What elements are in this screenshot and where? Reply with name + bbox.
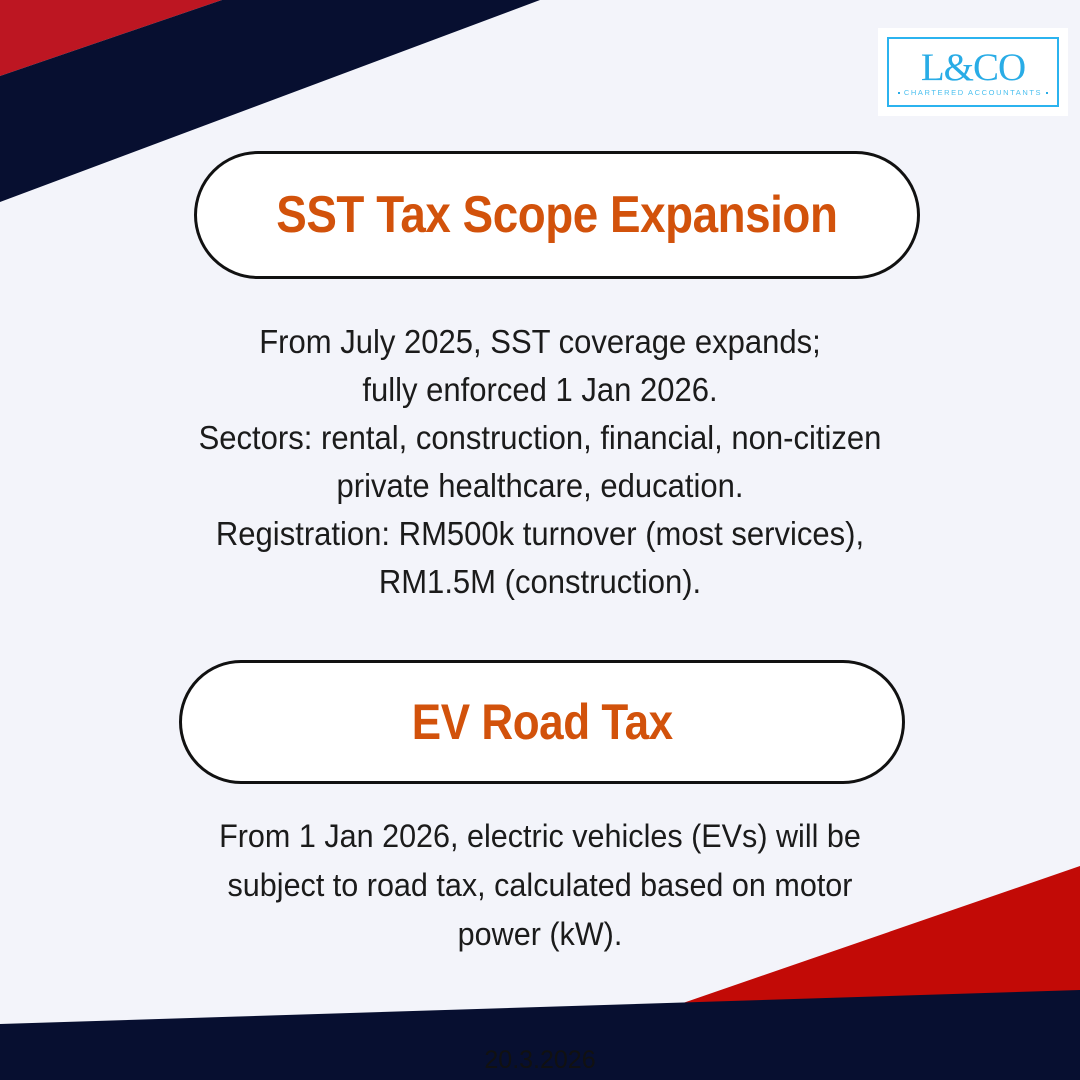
logo-frame: L&CO CHARTERED ACCOUNTANTS	[887, 37, 1059, 107]
logo-tagline-row: CHARTERED ACCOUNTANTS	[898, 88, 1048, 97]
company-logo: L&CO CHARTERED ACCOUNTANTS	[878, 28, 1068, 116]
heading-text-ev: EV Road Tax	[412, 693, 673, 751]
poster-canvas: L&CO CHARTERED ACCOUNTANTS SST Tax Scope…	[0, 0, 1080, 1080]
logo-wordmark: L&CO	[921, 49, 1025, 86]
logo-rule-right	[1046, 92, 1048, 94]
logo-tagline: CHARTERED ACCOUNTANTS	[900, 88, 1046, 97]
section-heading-pill-ev: EV Road Tax	[179, 660, 905, 784]
heading-text-sst: SST Tax Scope Expansion	[276, 185, 837, 245]
section-heading-pill-sst: SST Tax Scope Expansion	[194, 151, 920, 279]
section-body-sst: From July 2025, SST coverage expands; fu…	[32, 318, 1047, 606]
footer-date: 20.3.2026	[0, 1046, 1080, 1075]
section-body-ev: From 1 Jan 2026, electric vehicles (EVs)…	[32, 812, 1047, 959]
